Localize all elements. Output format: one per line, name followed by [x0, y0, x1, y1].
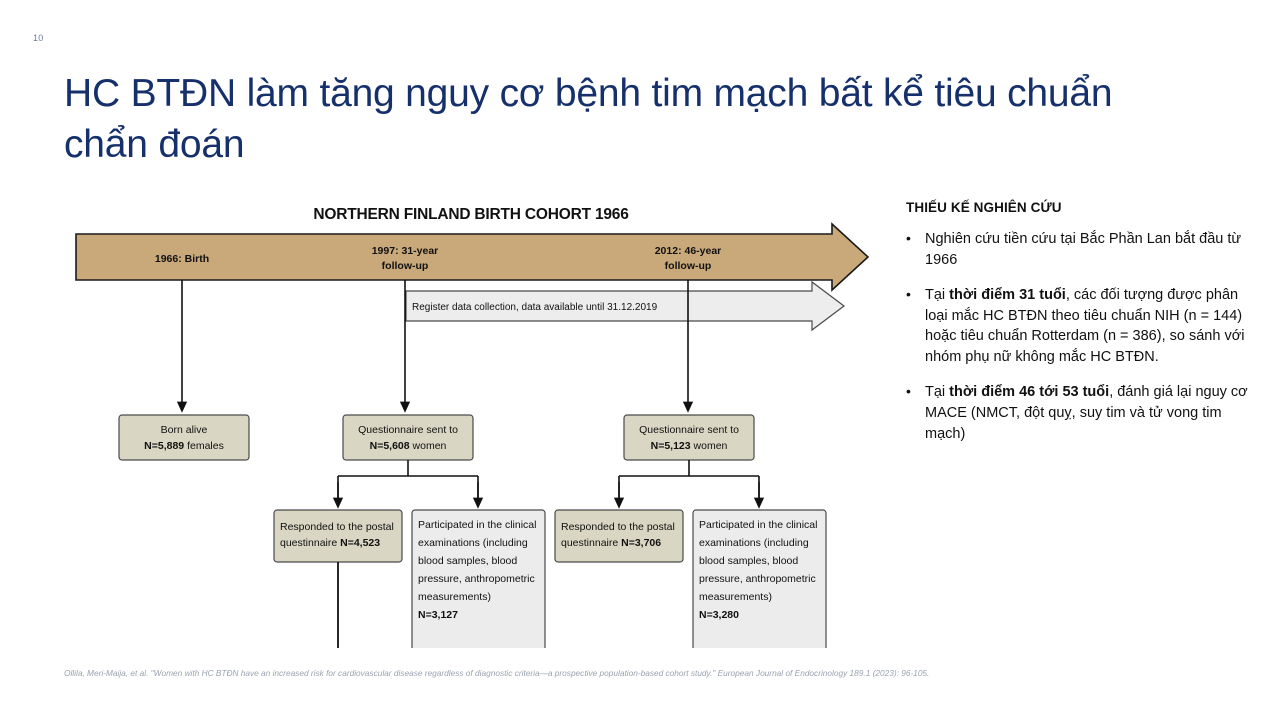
box-born-alive — [119, 415, 249, 460]
bullet-marker-icon: • — [906, 229, 916, 270]
box-responded-31 — [274, 510, 402, 562]
bullet-text: Tại thời điểm 31 tuổi, các đối tượng đượ… — [925, 285, 1258, 367]
citation-footnote: Ollila, Meri-Maija, et al. "Women with H… — [64, 668, 1244, 679]
box-questionnaire-46-line2: N=5,123 women — [651, 440, 728, 452]
timeline-label-1997b: follow-up — [382, 260, 429, 272]
box-clinical-46-line6: N=3,280 — [699, 609, 739, 621]
box-clinical-31-line5: measurements) — [418, 591, 491, 603]
box-questionnaire-31-line2: N=5,608 women — [370, 440, 447, 452]
register-arrow-label: Register data collection, data available… — [412, 302, 658, 313]
right-panel: THIẾU KẾ NGHIÊN CỨU •Nghiên cứu tiền cứu… — [906, 200, 1258, 459]
flowchart-figure: NORTHERN FINLAND BIRTH COHORT 1966 1966:… — [62, 196, 880, 648]
bullet-item: •Tại thời điểm 46 tới 53 tuổi, đánh giá … — [906, 382, 1258, 444]
box-born-alive-line1: Born alive — [161, 424, 208, 436]
bullet-item: •Tại thời điểm 31 tuổi, các đối tượng đư… — [906, 285, 1258, 367]
box-clinical-46-line2: examinations (including — [699, 537, 809, 549]
bullet-text: Tại thời điểm 46 tới 53 tuổi, đánh giá l… — [925, 382, 1258, 444]
bullet-marker-icon: • — [906, 382, 916, 444]
right-panel-heading: THIẾU KẾ NGHIÊN CỨU — [906, 200, 1258, 215]
branch-46 — [619, 460, 759, 501]
bullet-text: Nghiên cứu tiền cứu tại Bắc Phần Lan bắt… — [925, 229, 1258, 270]
box-questionnaire-46-line1: Questionnaire sent to — [639, 424, 739, 436]
right-panel-bullets: •Nghiên cứu tiền cứu tại Bắc Phần Lan bắ… — [906, 229, 1258, 444]
bullet-item: •Nghiên cứu tiền cứu tại Bắc Phần Lan bắ… — [906, 229, 1258, 270]
slide-root: 10 HC BTĐN làm tăng nguy cơ bệnh tim mạc… — [0, 0, 1280, 720]
box-clinical-31-line4: pressure, anthropometric — [418, 573, 535, 585]
timeline-label-1997: 1997: 31-year — [372, 245, 439, 257]
box-clinical-31-line3: blood samples, blood — [418, 555, 517, 567]
box-clinical-46-line3: blood samples, blood — [699, 555, 798, 567]
page-title: HC BTĐN làm tăng nguy cơ bệnh tim mạch b… — [64, 68, 1144, 171]
box-responded-46 — [555, 510, 683, 562]
box-clinical-31-line1: Participated in the clinical — [418, 519, 536, 531]
box-responded-31-line2: questinnaire N=4,523 — [280, 537, 380, 549]
timeline-label-2012: 2012: 46-year — [655, 245, 722, 257]
figure-title: NORTHERN FINLAND BIRTH COHORT 1966 — [313, 206, 629, 223]
box-questionnaire-31-line1: Questionnaire sent to — [358, 424, 458, 436]
box-clinical-46-line5: measurements) — [699, 591, 772, 603]
box-questionnaire-46 — [624, 415, 754, 460]
box-clinical-31-line2: examinations (including — [418, 537, 528, 549]
box-clinical-46-line1: Participated in the clinical — [699, 519, 817, 531]
bullet-marker-icon: • — [906, 285, 916, 367]
box-questionnaire-31 — [343, 415, 473, 460]
timeline-label-2012b: follow-up — [665, 260, 712, 272]
box-clinical-46-line4: pressure, anthropometric — [699, 573, 816, 585]
box-responded-46-line2: questinnaire N=3,706 — [561, 537, 661, 549]
page-number: 10 — [33, 33, 44, 43]
box-responded-46-line1: Responded to the postal — [561, 521, 675, 533]
box-clinical-31-line6: N=3,127 — [418, 609, 458, 621]
branch-31 — [338, 460, 478, 501]
box-responded-31-line1: Responded to the postal — [280, 521, 394, 533]
box-born-alive-line2: N=5,889 females — [144, 440, 224, 452]
timeline-label-1966: 1966: Birth — [155, 253, 209, 265]
